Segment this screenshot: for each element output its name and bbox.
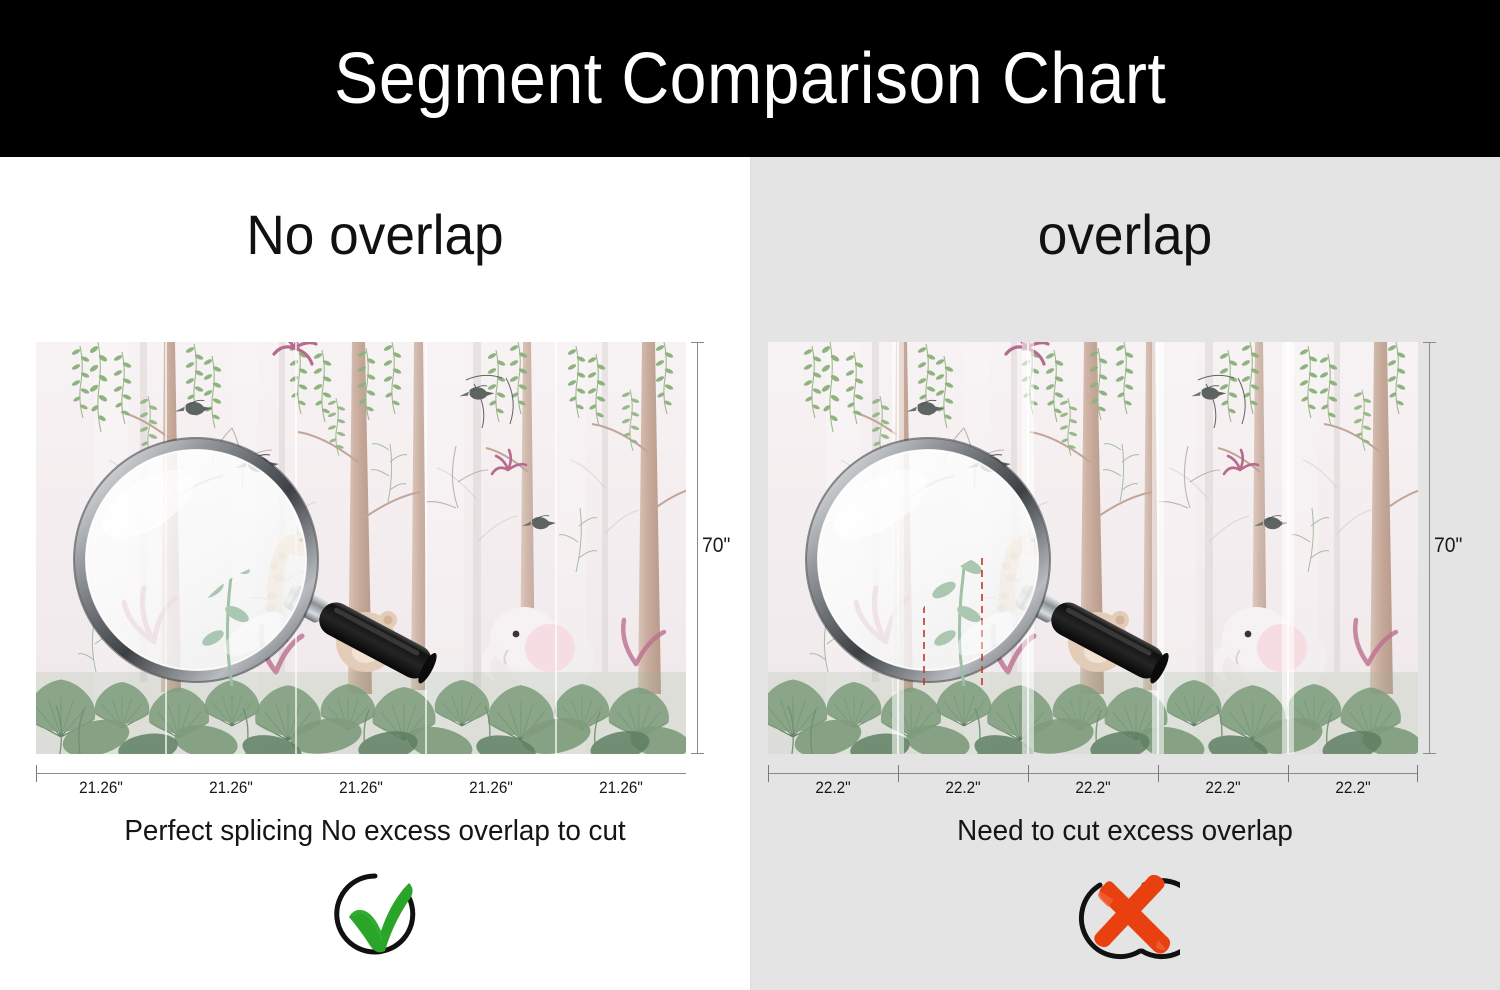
segment-width-label: 21.26" bbox=[43, 778, 160, 798]
verdict-overlap bbox=[750, 867, 1500, 967]
ruler-tick bbox=[1028, 765, 1029, 782]
segment-width-label: 22.2" bbox=[905, 778, 1022, 798]
segment-width-label: 22.2" bbox=[1295, 778, 1412, 798]
segment-width-label: 22.2" bbox=[1165, 778, 1282, 798]
ruler-cap-top bbox=[1423, 342, 1436, 343]
ruler-line bbox=[697, 342, 698, 754]
ruler-tick bbox=[1158, 765, 1159, 782]
panel-no-overlap: No overlap bbox=[0, 157, 750, 990]
panel-divider bbox=[750, 157, 751, 990]
height-label: 70" bbox=[702, 534, 730, 558]
width-ruler-overlap: 22.2" 22.2" 22.2" 22.2" 22.2" bbox=[768, 761, 1418, 807]
cross-circle-icon bbox=[1070, 867, 1180, 967]
caption-overlap: Need to cut excess overlap bbox=[765, 817, 1485, 846]
width-ruler-no-overlap: 21.26" 21.26" 21.26" 21.26" 21.26" bbox=[36, 761, 686, 807]
panel-heading-no-overlap: No overlap bbox=[19, 207, 732, 263]
caption-no-overlap: Perfect splicing No excess overlap to cu… bbox=[15, 817, 735, 846]
height-ruler-no-overlap: 70" bbox=[688, 342, 728, 754]
check-circle-icon bbox=[327, 867, 423, 963]
height-ruler-overlap: 70" bbox=[1420, 342, 1460, 754]
ruler-cap-bottom bbox=[691, 753, 704, 754]
segment-width-label: 22.2" bbox=[1035, 778, 1152, 798]
panel-overlap: overlap bbox=[750, 157, 1500, 990]
page-title: Segment Comparison Chart bbox=[334, 43, 1166, 115]
segment-width-label: 21.26" bbox=[433, 778, 550, 798]
segment-width-label: 21.26" bbox=[563, 778, 680, 798]
panel-heading-overlap: overlap bbox=[769, 207, 1482, 263]
ruler-cap-top bbox=[691, 342, 704, 343]
mural-overlap bbox=[768, 342, 1418, 754]
ruler-tick bbox=[1288, 765, 1289, 782]
ruler-line bbox=[768, 773, 1418, 774]
segment-width-label: 22.2" bbox=[775, 778, 892, 798]
ruler-line bbox=[36, 773, 686, 774]
mural-image bbox=[768, 342, 1418, 754]
height-label: 70" bbox=[1434, 534, 1462, 558]
segment-width-label: 21.26" bbox=[303, 778, 420, 798]
ruler-tick bbox=[36, 765, 37, 782]
ruler-cap-bottom bbox=[1423, 753, 1436, 754]
ruler-line bbox=[1429, 342, 1430, 754]
ruler-tick bbox=[898, 765, 899, 782]
verdict-no-overlap bbox=[0, 867, 750, 963]
ruler-tick bbox=[1417, 765, 1418, 782]
mural-image bbox=[36, 342, 686, 754]
title-bar: Segment Comparison Chart bbox=[0, 0, 1500, 157]
mural-no-overlap bbox=[36, 342, 686, 754]
segment-width-label: 21.26" bbox=[173, 778, 290, 798]
ruler-tick bbox=[768, 765, 769, 782]
